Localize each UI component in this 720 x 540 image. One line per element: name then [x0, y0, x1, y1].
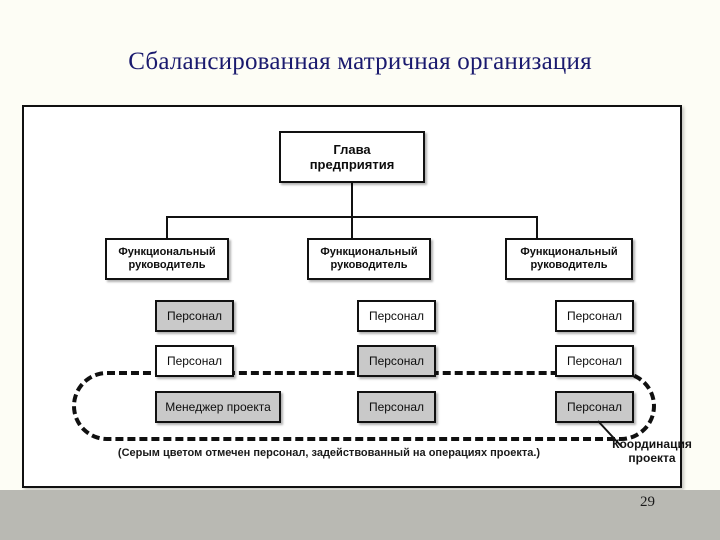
page-title: Сбалансированная матричная организация	[0, 48, 720, 76]
coordination-label-line2: проекта	[604, 451, 700, 465]
node-col3-staff-2[interactable]: Персонал	[555, 345, 634, 377]
org-chart-canvas: Глава предприятия Функциональный руковод…	[24, 107, 680, 486]
node-head-of-enterprise[interactable]: Глава предприятия	[279, 131, 425, 183]
node-manager-2-line2: руководитель	[331, 259, 408, 272]
node-manager-3-line1: Функциональный	[520, 246, 617, 259]
connector-spine-col2	[24, 241, 26, 369]
connector-drop-col3	[536, 216, 538, 238]
node-col1-staff-1[interactable]: Персонал	[155, 300, 234, 332]
connector-spine-col3	[24, 375, 26, 503]
connector-drop-col2	[351, 216, 353, 238]
node-functional-manager-2[interactable]: Функциональный руководитель	[307, 238, 431, 280]
node-col2-staff-3[interactable]: Персонал	[357, 391, 436, 423]
footer-strip	[0, 490, 720, 540]
coordination-leader-line-icon	[594, 419, 624, 449]
node-manager-1-line2: руководитель	[129, 259, 206, 272]
node-functional-manager-1[interactable]: Функциональный руководитель	[105, 238, 229, 280]
node-functional-manager-3[interactable]: Функциональный руководитель	[505, 238, 633, 280]
connector-branch-col2-row3	[24, 373, 46, 375]
node-manager-2-line1: Функциональный	[320, 246, 417, 259]
node-head-line2: предприятия	[310, 157, 395, 172]
connector-drop-col1	[166, 216, 168, 238]
node-col1-project-manager[interactable]: Менеджер проекта	[155, 391, 281, 423]
node-col2-staff-1[interactable]: Персонал	[357, 300, 436, 332]
page-number: 29	[640, 494, 655, 511]
connector-branch-col1-row3	[24, 239, 46, 241]
connector-spine-col1	[24, 107, 26, 235]
node-col1-staff-2[interactable]: Персонал	[155, 345, 234, 377]
node-col3-staff-1[interactable]: Персонал	[555, 300, 634, 332]
node-col2-staff-2[interactable]: Персонал	[357, 345, 436, 377]
node-manager-3-line2: руководитель	[531, 259, 608, 272]
node-manager-1-line1: Функциональный	[118, 246, 215, 259]
connector-head-trunk	[351, 183, 353, 217]
node-head-line1: Глава	[333, 142, 370, 157]
gray-legend-note: (Серым цветом отмечен персонал, задейств…	[114, 447, 544, 459]
diagram-frame: Глава предприятия Функциональный руковод…	[22, 105, 682, 488]
